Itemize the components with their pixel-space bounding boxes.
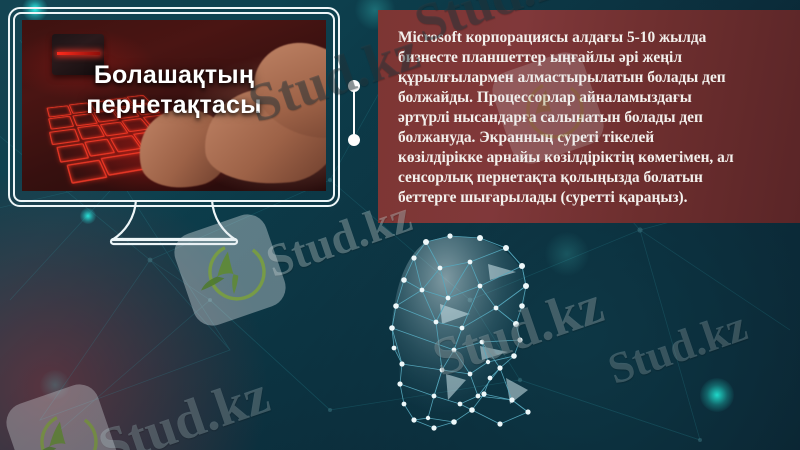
panel-line: Microsoft корпорациясы алдағы 5-10 жылда (398, 28, 784, 48)
panel-line: беттерге шығарылады (суретті қараңыз). (398, 188, 784, 208)
panel-line: бизнесте планшеттер ыңғайлы әрі жеңіл (398, 48, 784, 68)
panel-line: сенсорлық пернетақта қолыңызда болатын (398, 168, 784, 188)
monitor-title-line-1: Болашақтың (22, 61, 326, 91)
wireframe-head-network (330, 228, 630, 450)
computer-monitor-illustration: Болашақтың пернетақтасы (8, 7, 340, 207)
presentation-slide: Болашақтың пернетақтасы Microsoft корпор… (0, 0, 800, 450)
connector-stem (353, 86, 355, 140)
panel-line: әртүрлі нысандарға салынатын болады деп (398, 108, 784, 128)
monitor-title-line-2: пернетақтасы (22, 91, 326, 121)
laser-keyboard-photo: Болашақтың пернетақтасы (22, 20, 326, 191)
connector-dot-top (348, 80, 360, 92)
panel-paragraph: Microsoft корпорациясы алдағы 5-10 жылда… (398, 28, 784, 208)
connector-dot-bottom (348, 134, 360, 146)
text-content-panel: Microsoft корпорациясы алдағы 5-10 жылда… (378, 10, 800, 223)
panel-line: болжайды. Процессорлар айналамыздағы (398, 88, 784, 108)
monitor-screen-title: Болашақтың пернетақтасы (22, 61, 326, 120)
connector-line (347, 80, 361, 146)
panel-line: құрылғылармен алмастырылатын болады деп (398, 68, 784, 88)
monitor-stand (8, 200, 340, 248)
panel-line: көзілдірікке арнайы көзілдіріктің көмегі… (398, 148, 784, 168)
monitor-screen: Болашақтың пернетақтасы (22, 20, 326, 191)
panel-line: болжануда. Экранның суреті тікелей (398, 128, 784, 148)
